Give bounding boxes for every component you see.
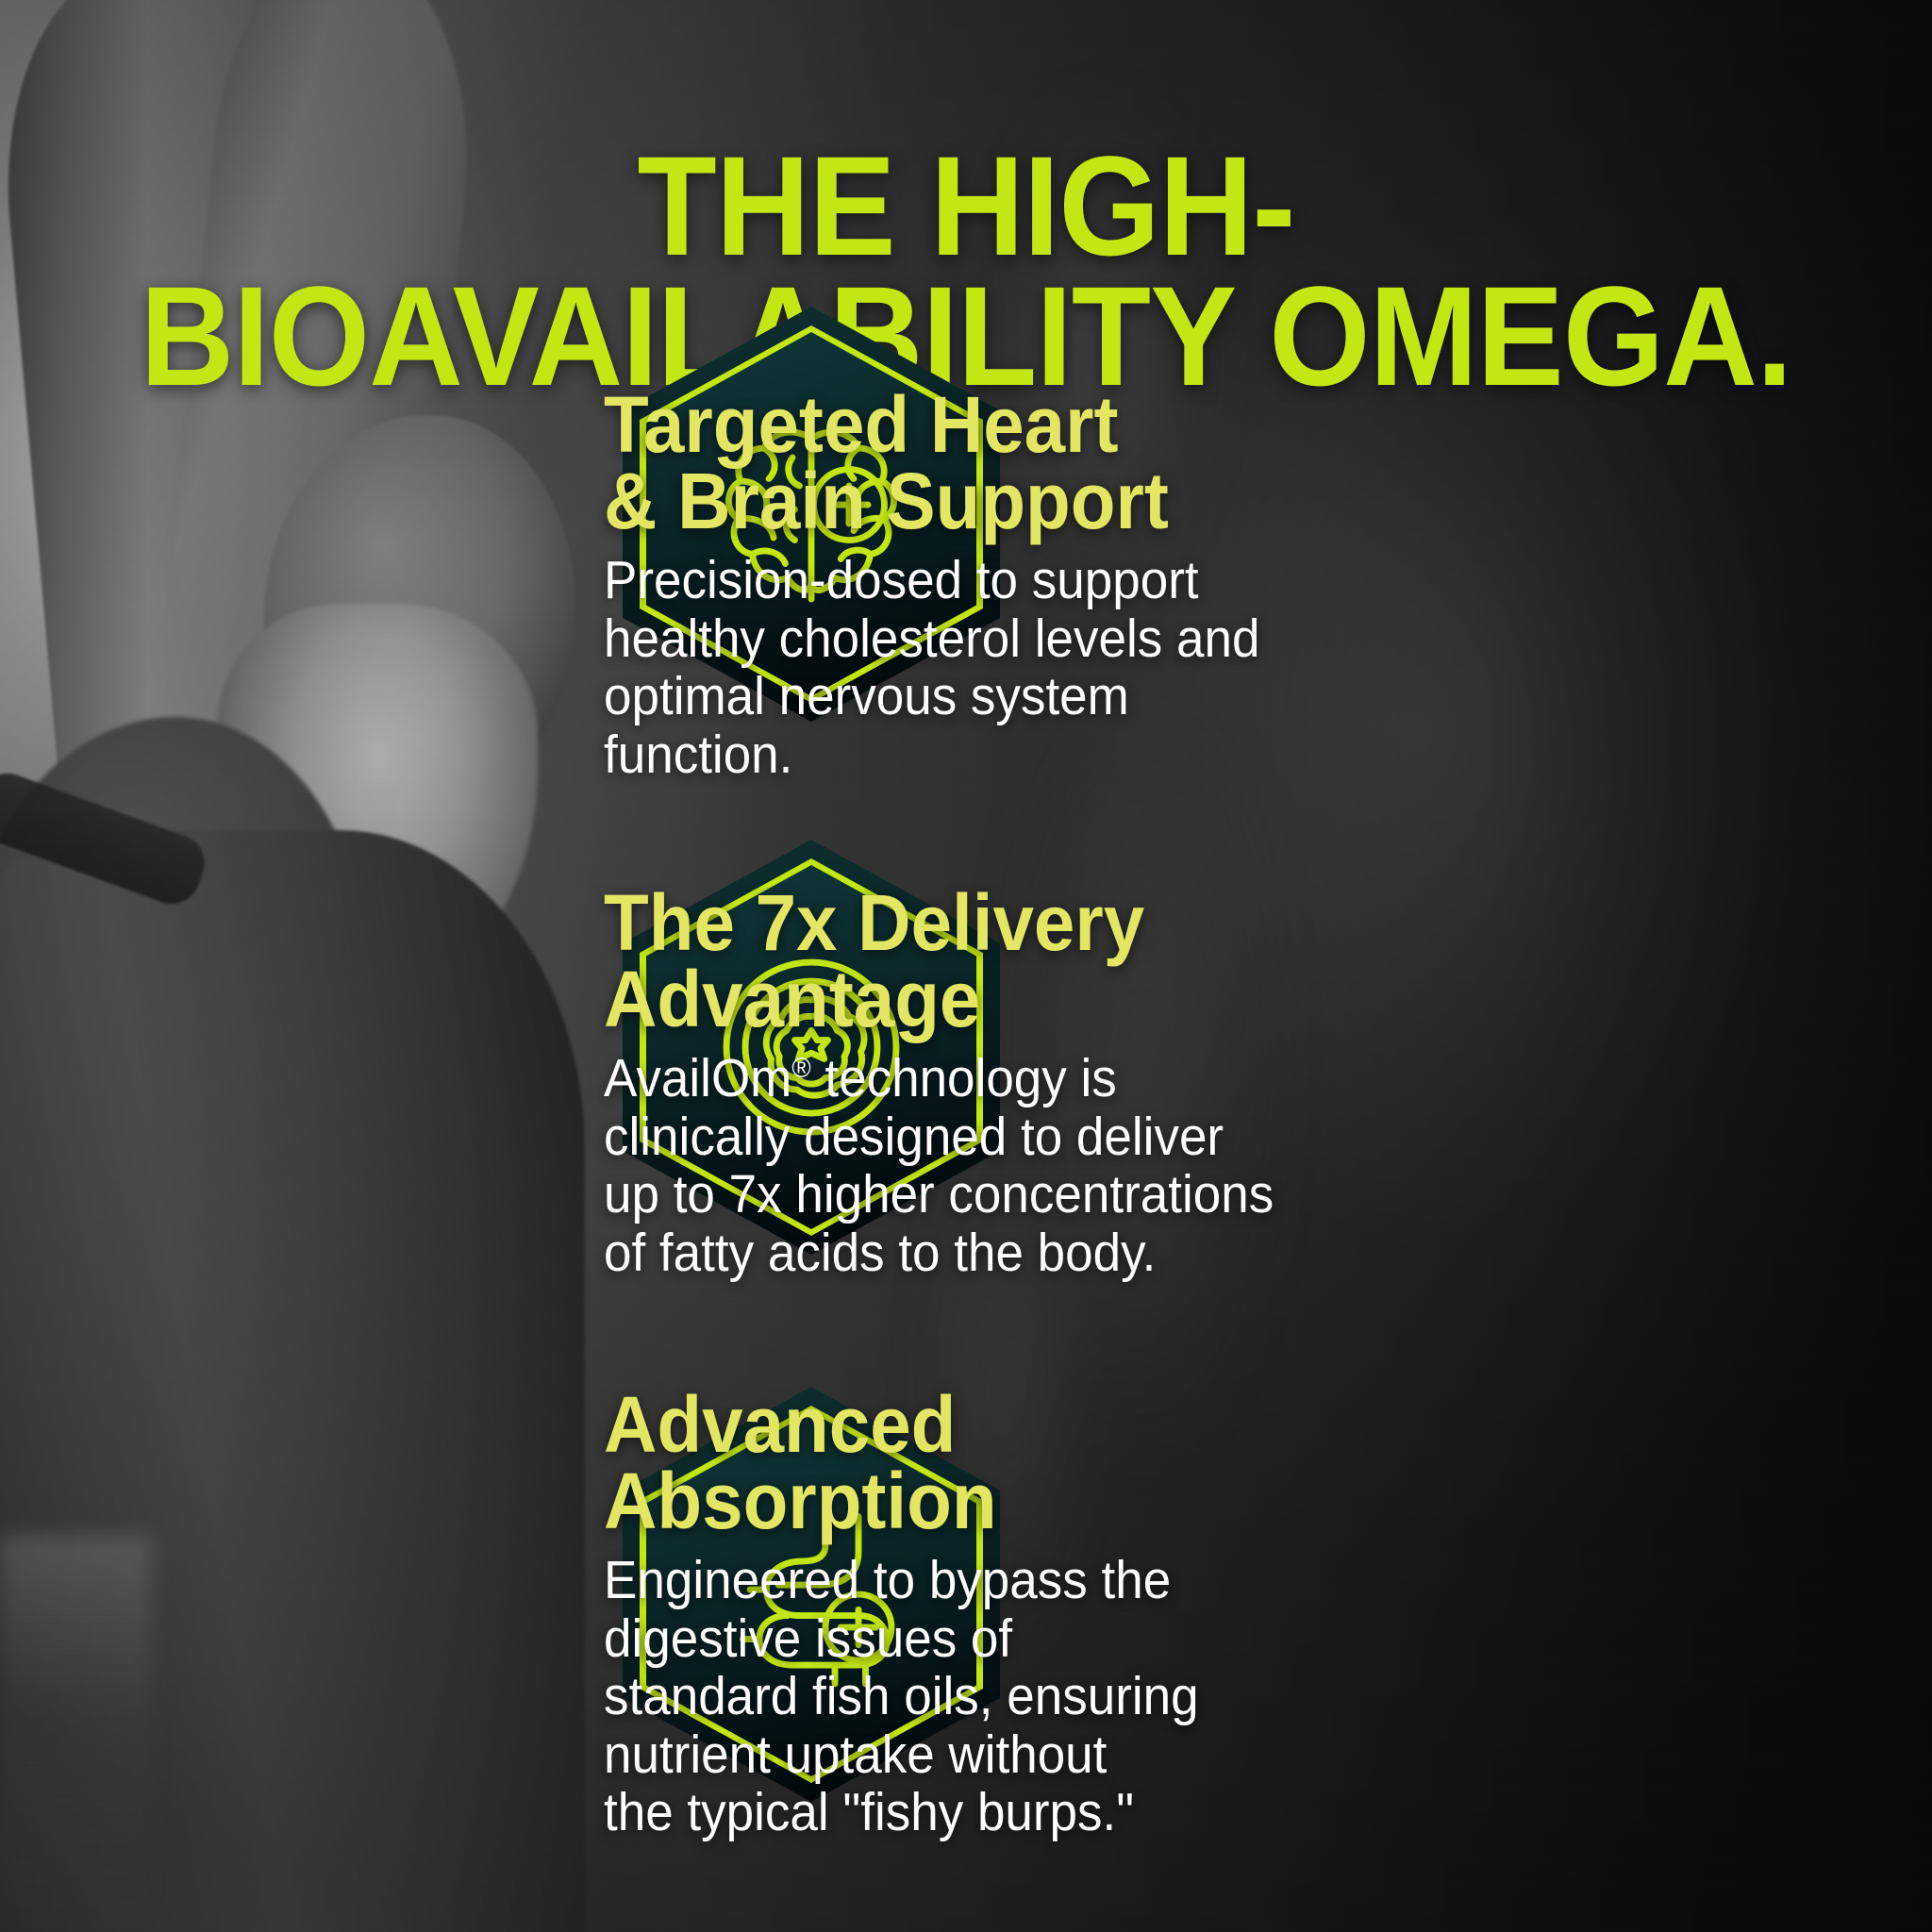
feature-body-2: AvailOm® technology is clinically design… bbox=[604, 1050, 1736, 1282]
feature-item-delivery: The 7x Delivery Advantage AvailOm® techn… bbox=[0, 877, 1932, 1377]
registered-mark: ® bbox=[791, 1053, 810, 1084]
feature-text-3: Advanced Absorption Engineered to bypass… bbox=[604, 1377, 1821, 1842]
feature-title-3: Advanced Absorption bbox=[604, 1387, 1736, 1539]
brand-name: AvailOm bbox=[604, 1048, 791, 1108]
feature-body-1: Precision-dosed to support healthy chole… bbox=[604, 552, 1736, 784]
feature-title-1: Targeted Heart & Brain Support bbox=[604, 387, 1736, 539]
feature-list: Targeted Heart & Brain Support Precision… bbox=[0, 387, 1932, 1932]
feature-item-absorption: Advanced Absorption Engineered to bypass… bbox=[0, 1377, 1932, 1932]
feature-item-heart-brain: Targeted Heart & Brain Support Precision… bbox=[0, 387, 1932, 877]
feature-title-2: The 7x Delivery Advantage bbox=[604, 885, 1736, 1037]
feature-text-2: The 7x Delivery Advantage AvailOm® techn… bbox=[604, 877, 1821, 1282]
infographic-canvas: THE HIGH- BIOAVAILABILITY OMEGA. bbox=[0, 0, 1932, 1932]
feature-body-3: Engineered to bypass the digestive issue… bbox=[604, 1552, 1736, 1842]
feature-text-1: Targeted Heart & Brain Support Precision… bbox=[604, 387, 1821, 784]
